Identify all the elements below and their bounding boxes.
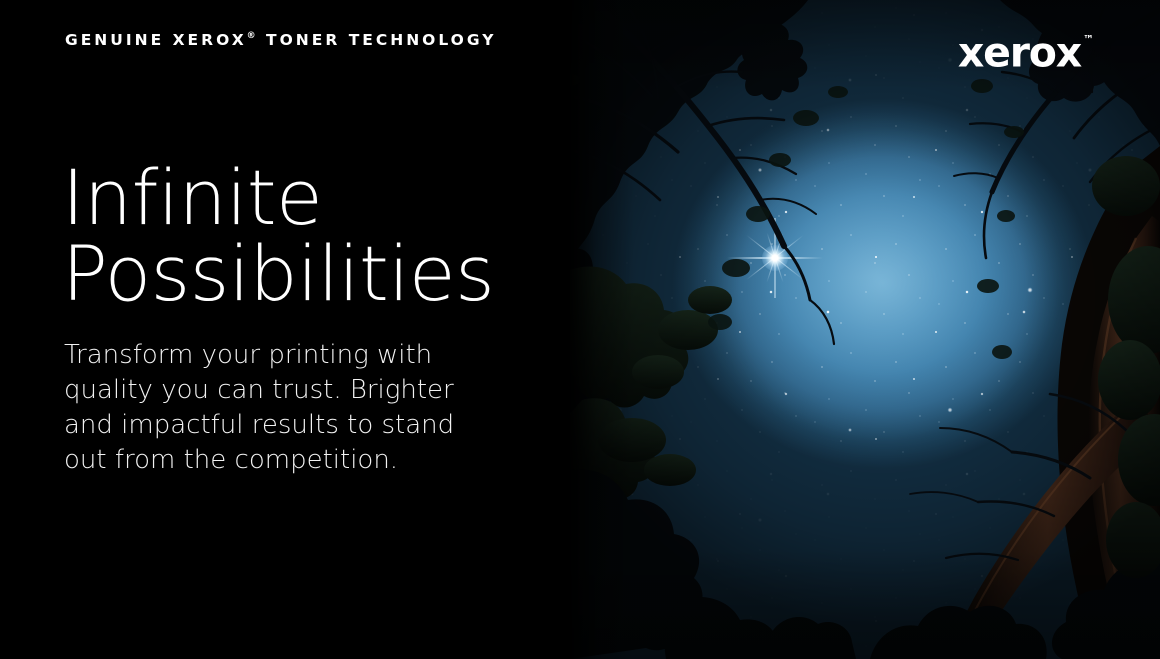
xerox-wordmark: xerox	[958, 29, 1081, 77]
xerox-logo: xerox™	[958, 28, 1092, 74]
text-panel: GENUINE XEROX® TONER TECHNOLOGY Infinite…	[0, 0, 570, 659]
subcopy-paragraph: Transform your printing with quality you…	[64, 338, 504, 478]
foliage-left	[570, 266, 732, 498]
eyebrow-text-after-mark: TONER TECHNOLOGY	[258, 31, 497, 49]
tree-canopy-silhouette	[570, 0, 1160, 659]
headline-line-1: Infinite	[62, 160, 542, 236]
registered-trademark-icon: ®	[247, 31, 258, 41]
eyebrow-text-before-mark: GENUINE XEROX	[65, 31, 247, 49]
headline-line-2: Possibilities	[62, 236, 542, 312]
canopy-bottom-left	[570, 469, 778, 659]
trademark-icon: ™	[1083, 33, 1094, 46]
night-sky-forest-photo	[570, 0, 1160, 659]
canopy-svg	[570, 0, 1160, 659]
page-title: Infinite Possibilities	[62, 160, 542, 312]
xerox-toner-ad-banner: GENUINE XEROX® TONER TECHNOLOGY Infinite…	[0, 0, 1160, 659]
eyebrow-tagline: GENUINE XEROX® TONER TECHNOLOGY	[65, 33, 496, 49]
